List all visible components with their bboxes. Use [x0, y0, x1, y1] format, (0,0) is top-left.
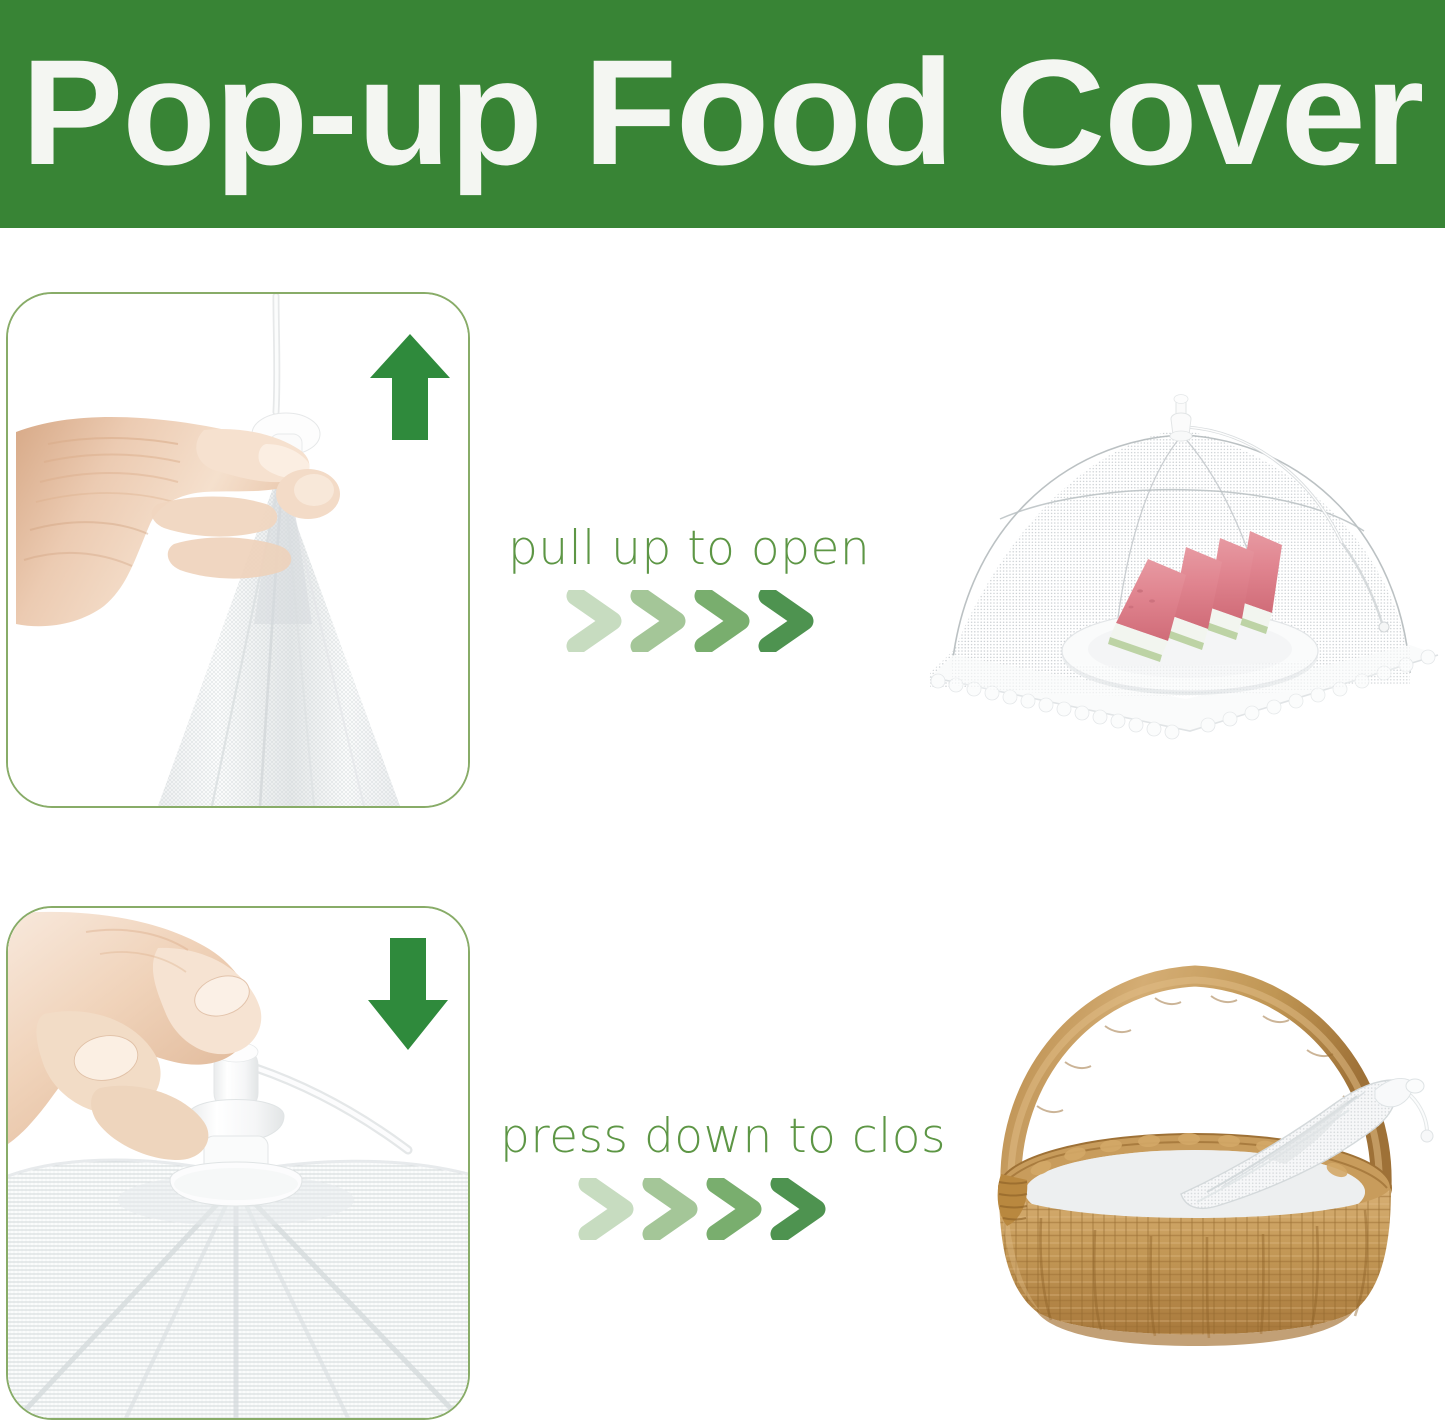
arrow-up-icon	[370, 334, 450, 440]
chevron-right-icon-7	[704, 1178, 774, 1240]
wicker-basket-with-folded-cover-image	[945, 930, 1445, 1350]
instruction-pull-up-label: pull up to open	[508, 524, 888, 573]
chevron-right-icon-8	[768, 1178, 838, 1240]
arrow-down-icon	[368, 938, 448, 1050]
food-cover-open-over-watermelon-image	[890, 355, 1440, 745]
chevron-row-pull-up	[508, 590, 888, 652]
chevron-row-press-down	[500, 1178, 960, 1240]
chevron-right-icon-2	[628, 590, 698, 652]
chevron-right-icon-1	[564, 590, 634, 652]
photo-basket-folded	[945, 930, 1445, 1350]
chevron-right-icon-5	[576, 1178, 646, 1240]
header-banner: Pop-up Food Cover	[0, 0, 1445, 228]
page-title: Pop-up Food Cover	[21, 37, 1423, 187]
chevron-right-icon-6	[640, 1178, 710, 1240]
chevron-right-icon-4	[756, 590, 826, 652]
chevron-right-icon-3	[692, 590, 762, 652]
instruction-pull-up: pull up to open	[508, 524, 888, 652]
instruction-press-down: press down to close	[500, 1112, 960, 1240]
instruction-press-down-label: press down to close	[500, 1112, 960, 1161]
photo-food-cover-open	[890, 355, 1440, 745]
